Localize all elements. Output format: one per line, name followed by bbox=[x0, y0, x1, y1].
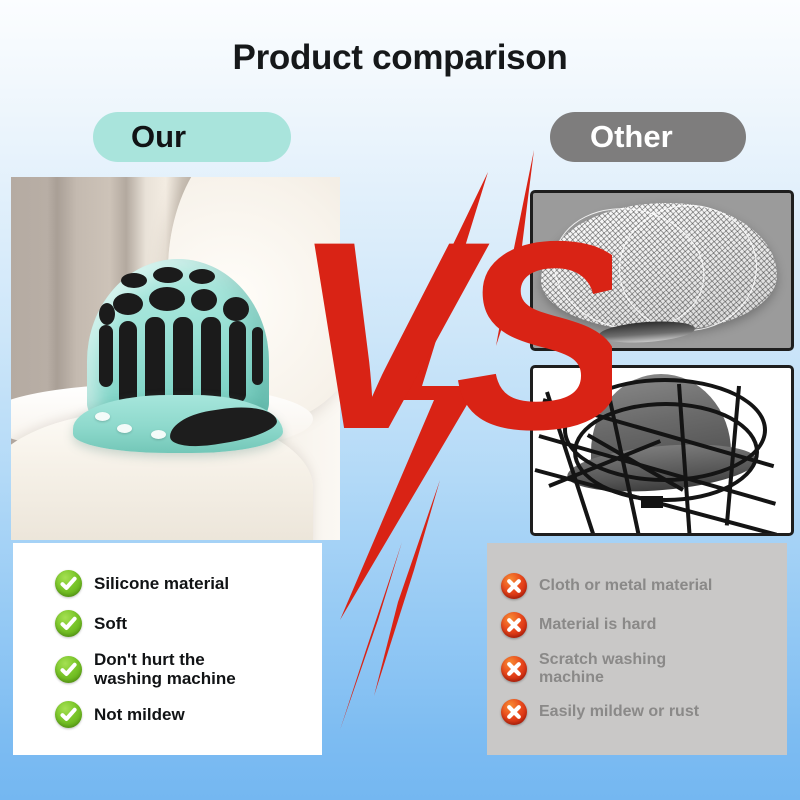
label-pill-our-text: Our bbox=[131, 119, 186, 155]
other-mesh-bag-photo bbox=[530, 190, 794, 351]
list-item-label: Don't hurt the washing machine bbox=[94, 650, 236, 688]
list-item-label: Scratch washing machine bbox=[539, 651, 666, 687]
x-circle-icon bbox=[501, 656, 527, 682]
our-features-list: Silicone material Soft Don't hurt the wa… bbox=[13, 543, 322, 755]
list-item: Silicone material bbox=[55, 570, 312, 597]
list-item-label: Silicone material bbox=[94, 574, 229, 593]
check-circle-icon bbox=[55, 701, 82, 728]
list-item: Easily mildew or rust bbox=[501, 699, 777, 725]
list-item: Not mildew bbox=[55, 701, 312, 728]
list-item: Cloth or metal material bbox=[501, 573, 777, 599]
list-item-label: Easily mildew or rust bbox=[539, 703, 699, 721]
check-circle-icon bbox=[55, 610, 82, 637]
other-wire-cage-photo bbox=[530, 365, 794, 536]
x-circle-icon bbox=[501, 699, 527, 725]
check-circle-icon bbox=[55, 570, 82, 597]
list-item-label: Soft bbox=[94, 614, 127, 633]
label-pill-other: Other bbox=[550, 112, 746, 162]
x-circle-icon bbox=[501, 612, 527, 638]
list-item: Soft bbox=[55, 610, 312, 637]
infographic-canvas: Product comparison Our Other bbox=[0, 0, 800, 800]
other-features-panel: Cloth or metal material Material is hard… bbox=[487, 543, 787, 755]
check-circle-icon bbox=[55, 656, 82, 683]
list-item: Scratch washing machine bbox=[501, 651, 777, 687]
label-pill-other-text: Other bbox=[590, 119, 673, 155]
our-product-photo bbox=[11, 177, 340, 540]
x-circle-icon bbox=[501, 573, 527, 599]
list-item-label: Cloth or metal material bbox=[539, 577, 712, 595]
list-item: Material is hard bbox=[501, 612, 777, 638]
page-title: Product comparison bbox=[0, 38, 800, 78]
other-features-list: Cloth or metal material Material is hard… bbox=[487, 543, 787, 755]
silicone-cap-washer bbox=[73, 259, 283, 455]
list-item-label: Material is hard bbox=[539, 616, 656, 634]
list-item: Don't hurt the washing machine bbox=[55, 650, 312, 688]
label-pill-our: Our bbox=[93, 112, 291, 162]
our-features-panel: Silicone material Soft Don't hurt the wa… bbox=[13, 543, 322, 755]
list-item-label: Not mildew bbox=[94, 705, 185, 724]
